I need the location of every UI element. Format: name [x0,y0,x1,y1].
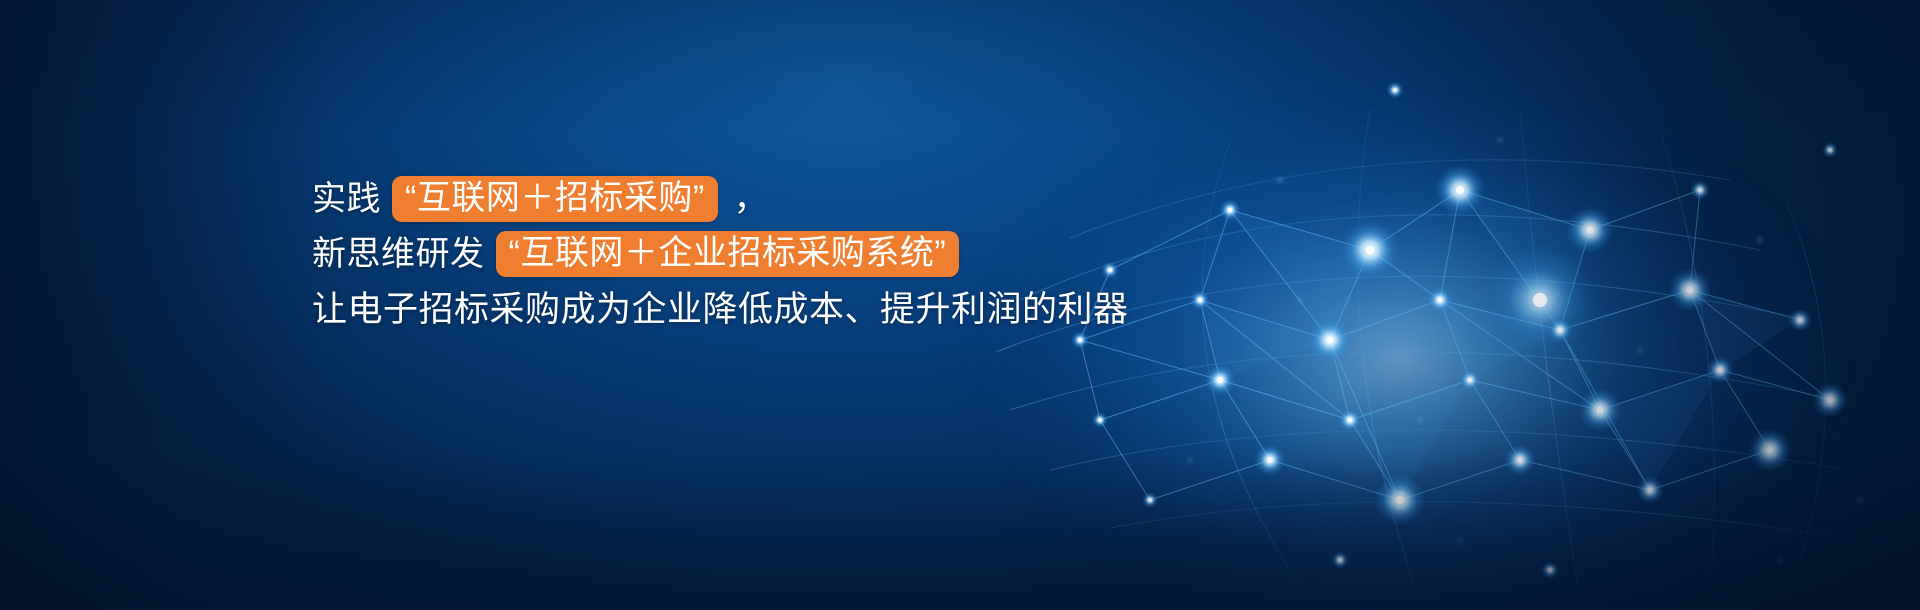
headline-line-2: 新思维研发 “互联网＋企业招标采购系统” [312,231,1172,277]
headline-block: 实践 “互联网＋招标采购” ， 新思维研发 “互联网＋企业招标采购系统” 让电子… [312,176,1172,332]
headline-line-1: 实践 “互联网＋招标采购” ， [312,176,1172,222]
headline-line-1-prefix: 实践 [312,182,381,216]
headline-line-2-prefix: 新思维研发 [312,237,485,271]
hero-banner: 实践 “互联网＋招标采购” ， 新思维研发 “互联网＋企业招标采购系统” 让电子… [0,0,1920,610]
headline-line-1-highlight-badge: “互联网＋招标采购” [392,176,718,222]
headline-line-3: 让电子招标采购成为企业降低成本、提升利润的利器 [312,286,1172,332]
headline-line-3-text: 让电子招标采购成为企业降低成本、提升利润的利器 [312,292,1129,327]
headline-line-2-highlight-badge: “互联网＋企业招标采购系统” [496,231,960,277]
headline-line-1-suffix: ， [734,182,769,216]
